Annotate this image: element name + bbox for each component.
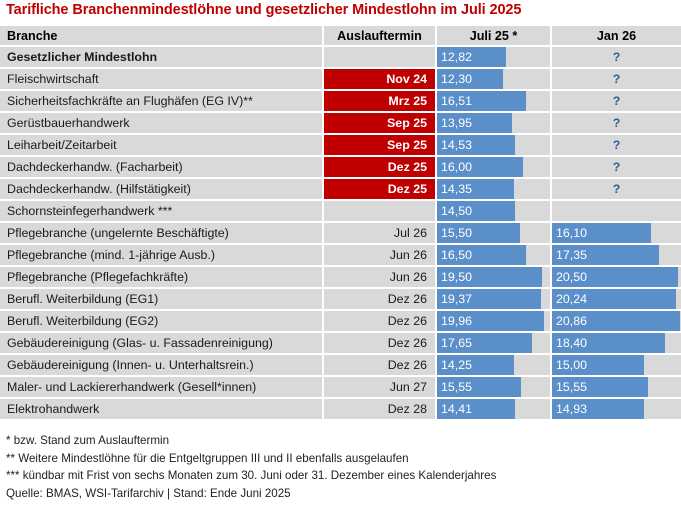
- cell-branche: Pflegebranche (Pflegefachkräfte): [0, 267, 322, 287]
- branche-label: Elektrohandwerk: [7, 402, 99, 416]
- branche-label: Pflegebranche (Pflegefachkräfte): [7, 270, 188, 284]
- branche-label: Berufl. Weiterbildung (EG2): [7, 314, 158, 328]
- cell-juli-25: 14,35: [437, 179, 550, 199]
- branche-label: Berufl. Weiterbildung (EG1): [7, 292, 158, 306]
- cell-auslauftermin-expired: Mrz 25: [324, 91, 435, 111]
- cell-juli-25: 13,95: [437, 113, 550, 133]
- cell-auslauftermin: Jul 26: [324, 223, 435, 243]
- auslauftermin-label: Dez 25: [324, 182, 427, 196]
- footnotes: * bzw. Stand zum Auslauftermin** Weitere…: [6, 432, 676, 502]
- value-jan-26: 15,00: [556, 358, 587, 372]
- cell-auslauftermin: Dez 26: [324, 311, 435, 331]
- value-jan-26: 18,40: [556, 336, 587, 350]
- value-juli-25: 14,50: [441, 204, 472, 218]
- value-juli-25: 16,51: [441, 94, 472, 108]
- cell-juli-25: 19,37: [437, 289, 550, 309]
- auslauftermin-label: Dez 26: [324, 336, 427, 350]
- cell-branche: Dachdeckerhandw. (Facharbeit): [0, 157, 322, 177]
- column-header-jan-26: Jan 26: [552, 26, 681, 45]
- source-note: Quelle: BMAS, WSI-Tarifarchiv | Stand: E…: [6, 485, 676, 503]
- value-juli-25: 14,41: [441, 402, 472, 416]
- value-juli-25: 16,50: [441, 248, 472, 262]
- table-row: Gebäudereinigung (Glas- u. Fassadenreini…: [0, 333, 681, 353]
- cell-branche: Leiharbeit/Zeitarbeit: [0, 135, 322, 155]
- column-header-juli-25-label: Juli 25 *: [437, 29, 550, 43]
- auslauftermin-label: Mrz 25: [324, 94, 427, 108]
- cell-jan-26: 15,55: [552, 377, 681, 397]
- branche-label: Gesetzlicher Mindestlohn: [7, 50, 157, 64]
- cell-juli-25: 12,82: [437, 47, 550, 67]
- auslauftermin-label: Jul 26: [324, 226, 427, 240]
- cell-jan-26: 18,40: [552, 333, 681, 353]
- table-row: Pflegebranche (Pflegefachkräfte)Jun 2619…: [0, 267, 681, 287]
- value-juli-25: 12,82: [441, 50, 472, 64]
- branche-label: Dachdeckerhandw. (Hilfstätigkeit): [7, 182, 191, 196]
- cell-auslauftermin: [324, 47, 435, 67]
- cell-jan-26: 20,86: [552, 311, 681, 331]
- cell-juli-25: 16,51: [437, 91, 550, 111]
- column-header-jan-26-label: Jan 26: [552, 29, 681, 43]
- cell-jan-26: 20,50: [552, 267, 681, 287]
- auslauftermin-label: Dez 26: [324, 358, 427, 372]
- table-row: Sicherheitsfachkräfte an Flughäfen (EG I…: [0, 91, 681, 111]
- cell-jan-26: 20,24: [552, 289, 681, 309]
- cell-jan-26: ?: [552, 91, 681, 111]
- column-header-branche-label: Branche: [7, 29, 57, 43]
- cell-juli-25: 14,25: [437, 355, 550, 375]
- cell-juli-25: 14,41: [437, 399, 550, 419]
- branche-label: Sicherheitsfachkräfte an Flughäfen (EG I…: [7, 94, 253, 108]
- table-row: ElektrohandwerkDez 2814,4114,93: [0, 399, 681, 419]
- cell-jan-26: ?: [552, 113, 681, 133]
- value-juli-25: 13,95: [441, 116, 472, 130]
- cell-auslauftermin-expired: Dez 25: [324, 157, 435, 177]
- footnote: ** Weitere Mindestlöhne für die Entgeltg…: [6, 450, 676, 468]
- table-row: Schornsteinfegerhandwerk ***14,50: [0, 201, 681, 221]
- table-row: Maler- und Lackiererhandwerk (Gesell*inn…: [0, 377, 681, 397]
- auslauftermin-label: Dez 26: [324, 292, 427, 306]
- value-jan-26: 20,50: [556, 270, 587, 284]
- table-row: FleischwirtschaftNov 2412,30?: [0, 69, 681, 89]
- cell-branche: Dachdeckerhandw. (Hilfstätigkeit): [0, 179, 322, 199]
- cell-branche: Sicherheitsfachkräfte an Flughäfen (EG I…: [0, 91, 322, 111]
- cell-juli-25: 14,53: [437, 135, 550, 155]
- cell-juli-25: 14,50: [437, 201, 550, 221]
- cell-jan-26: 16,10: [552, 223, 681, 243]
- value-jan-26-unknown: ?: [552, 138, 681, 152]
- value-jan-26-unknown: ?: [552, 50, 681, 64]
- branche-label: Gebäudereinigung (Glas- u. Fassadenreini…: [7, 336, 273, 350]
- auslauftermin-label: Sep 25: [324, 138, 427, 152]
- cell-jan-26: ?: [552, 47, 681, 67]
- auslauftermin-label: Dez 25: [324, 160, 427, 174]
- value-juli-25: 19,50: [441, 270, 472, 284]
- branche-label: Schornsteinfegerhandwerk ***: [7, 204, 172, 218]
- auslauftermin-label: Jun 26: [324, 270, 427, 284]
- table-header-row: Branche Auslauftermin Juli 25 * Jan 26: [0, 26, 681, 45]
- table-row: GerüstbauerhandwerkSep 2513,95?: [0, 113, 681, 133]
- cell-branche: Maler- und Lackiererhandwerk (Gesell*inn…: [0, 377, 322, 397]
- value-juli-25: 14,53: [441, 138, 472, 152]
- cell-juli-25: 17,65: [437, 333, 550, 353]
- table-row: Dachdeckerhandw. (Hilfstätigkeit)Dez 251…: [0, 179, 681, 199]
- cell-branche: Gesetzlicher Mindestlohn: [0, 47, 322, 67]
- value-juli-25: 14,35: [441, 182, 472, 196]
- column-header-branche: Branche: [0, 26, 322, 45]
- cell-jan-26: [552, 201, 681, 221]
- branche-label: Gebäudereinigung (Innen- u. Unterhaltsre…: [7, 358, 254, 372]
- value-jan-26-unknown: ?: [552, 160, 681, 174]
- value-jan-26: 15,55: [556, 380, 587, 394]
- cell-jan-26: ?: [552, 69, 681, 89]
- branche-label: Gerüstbauerhandwerk: [7, 116, 130, 130]
- cell-auslauftermin-expired: Sep 25: [324, 135, 435, 155]
- cell-juli-25: 15,55: [437, 377, 550, 397]
- column-header-auslauftermin-label: Auslauftermin: [324, 29, 435, 43]
- cell-branche: Berufl. Weiterbildung (EG2): [0, 311, 322, 331]
- value-juli-25: 16,00: [441, 160, 472, 174]
- cell-jan-26: ?: [552, 179, 681, 199]
- column-header-auslauftermin: Auslauftermin: [324, 26, 435, 45]
- auslauftermin-label: Jun 26: [324, 248, 427, 262]
- cell-auslauftermin-expired: Sep 25: [324, 113, 435, 133]
- branche-label: Dachdeckerhandw. (Facharbeit): [7, 160, 183, 174]
- cell-branche: Gebäudereinigung (Glas- u. Fassadenreini…: [0, 333, 322, 353]
- cell-branche: Berufl. Weiterbildung (EG1): [0, 289, 322, 309]
- cell-jan-26: 14,93: [552, 399, 681, 419]
- value-jan-26-unknown: ?: [552, 182, 681, 196]
- value-juli-25: 15,50: [441, 226, 472, 240]
- branche-label: Leiharbeit/Zeitarbeit: [7, 138, 117, 152]
- cell-branche: Gerüstbauerhandwerk: [0, 113, 322, 133]
- branche-label: Pflegebranche (ungelernte Beschäftigte): [7, 226, 229, 240]
- value-jan-26: 14,93: [556, 402, 587, 416]
- table-row: Berufl. Weiterbildung (EG2)Dez 2619,9620…: [0, 311, 681, 331]
- cell-auslauftermin: Jun 27: [324, 377, 435, 397]
- value-jan-26-unknown: ?: [552, 94, 681, 108]
- footnote: * bzw. Stand zum Auslauftermin: [6, 432, 676, 450]
- table-body: Gesetzlicher Mindestlohn12,82?Fleischwir…: [0, 47, 681, 419]
- auslauftermin-label: Nov 24: [324, 72, 427, 86]
- cell-juli-25: 16,00: [437, 157, 550, 177]
- cell-branche: Pflegebranche (mind. 1-jährige Ausb.): [0, 245, 322, 265]
- cell-auslauftermin: Dez 26: [324, 333, 435, 353]
- cell-juli-25: 19,96: [437, 311, 550, 331]
- wage-table: Branche Auslauftermin Juli 25 * Jan 26 G…: [0, 26, 681, 421]
- value-jan-26: 20,86: [556, 314, 587, 328]
- table-row: Gesetzlicher Mindestlohn12,82?: [0, 47, 681, 67]
- table-row: Gebäudereinigung (Innen- u. Unterhaltsre…: [0, 355, 681, 375]
- cell-auslauftermin: Dez 26: [324, 289, 435, 309]
- table-row: Dachdeckerhandw. (Facharbeit)Dez 2516,00…: [0, 157, 681, 177]
- cell-branche: Elektrohandwerk: [0, 399, 322, 419]
- table-row: Pflegebranche (mind. 1-jährige Ausb.)Jun…: [0, 245, 681, 265]
- cell-branche: Gebäudereinigung (Innen- u. Unterhaltsre…: [0, 355, 322, 375]
- footnote: *** kündbar mit Frist von sechs Monaten …: [6, 467, 676, 485]
- cell-branche: Fleischwirtschaft: [0, 69, 322, 89]
- value-jan-26: 20,24: [556, 292, 587, 306]
- cell-jan-26: ?: [552, 135, 681, 155]
- cell-branche: Pflegebranche (ungelernte Beschäftigte): [0, 223, 322, 243]
- value-jan-26-unknown: ?: [552, 116, 681, 130]
- column-header-juli-25: Juli 25 *: [437, 26, 550, 45]
- table-row: Berufl. Weiterbildung (EG1)Dez 2619,3720…: [0, 289, 681, 309]
- value-jan-26-unknown: ?: [552, 72, 681, 86]
- cell-jan-26: ?: [552, 157, 681, 177]
- cell-auslauftermin: Jun 26: [324, 267, 435, 287]
- page-title: Tarifliche Branchenmindestlöhne und gese…: [6, 2, 521, 18]
- cell-branche: Schornsteinfegerhandwerk ***: [0, 201, 322, 221]
- value-juli-25: 19,96: [441, 314, 472, 328]
- cell-auslauftermin-expired: Dez 25: [324, 179, 435, 199]
- cell-juli-25: 19,50: [437, 267, 550, 287]
- branche-label: Fleischwirtschaft: [7, 72, 99, 86]
- branche-label: Maler- und Lackiererhandwerk (Gesell*inn…: [7, 380, 256, 394]
- cell-auslauftermin: Dez 28: [324, 399, 435, 419]
- branche-label: Pflegebranche (mind. 1-jährige Ausb.): [7, 248, 215, 262]
- cell-auslauftermin: Jun 26: [324, 245, 435, 265]
- cell-jan-26: 17,35: [552, 245, 681, 265]
- cell-juli-25: 16,50: [437, 245, 550, 265]
- cell-juli-25: 12,30: [437, 69, 550, 89]
- value-jan-26: 16,10: [556, 226, 587, 240]
- cell-auslauftermin: Dez 26: [324, 355, 435, 375]
- cell-jan-26: 15,00: [552, 355, 681, 375]
- value-jan-26: 17,35: [556, 248, 587, 262]
- value-juli-25: 17,65: [441, 336, 472, 350]
- cell-auslauftermin: [324, 201, 435, 221]
- cell-auslauftermin-expired: Nov 24: [324, 69, 435, 89]
- table-row: Leiharbeit/ZeitarbeitSep 2514,53?: [0, 135, 681, 155]
- value-juli-25: 19,37: [441, 292, 472, 306]
- table-row: Pflegebranche (ungelernte Beschäftigte)J…: [0, 223, 681, 243]
- auslauftermin-label: Sep 25: [324, 116, 427, 130]
- auslauftermin-label: Jun 27: [324, 380, 427, 394]
- minimum-wage-chart: Tarifliche Branchenmindestlöhne und gese…: [0, 0, 681, 508]
- cell-juli-25: 15,50: [437, 223, 550, 243]
- auslauftermin-label: Dez 26: [324, 314, 427, 328]
- auslauftermin-label: Dez 28: [324, 402, 427, 416]
- value-juli-25: 15,55: [441, 380, 472, 394]
- value-juli-25: 14,25: [441, 358, 472, 372]
- value-juli-25: 12,30: [441, 72, 472, 86]
